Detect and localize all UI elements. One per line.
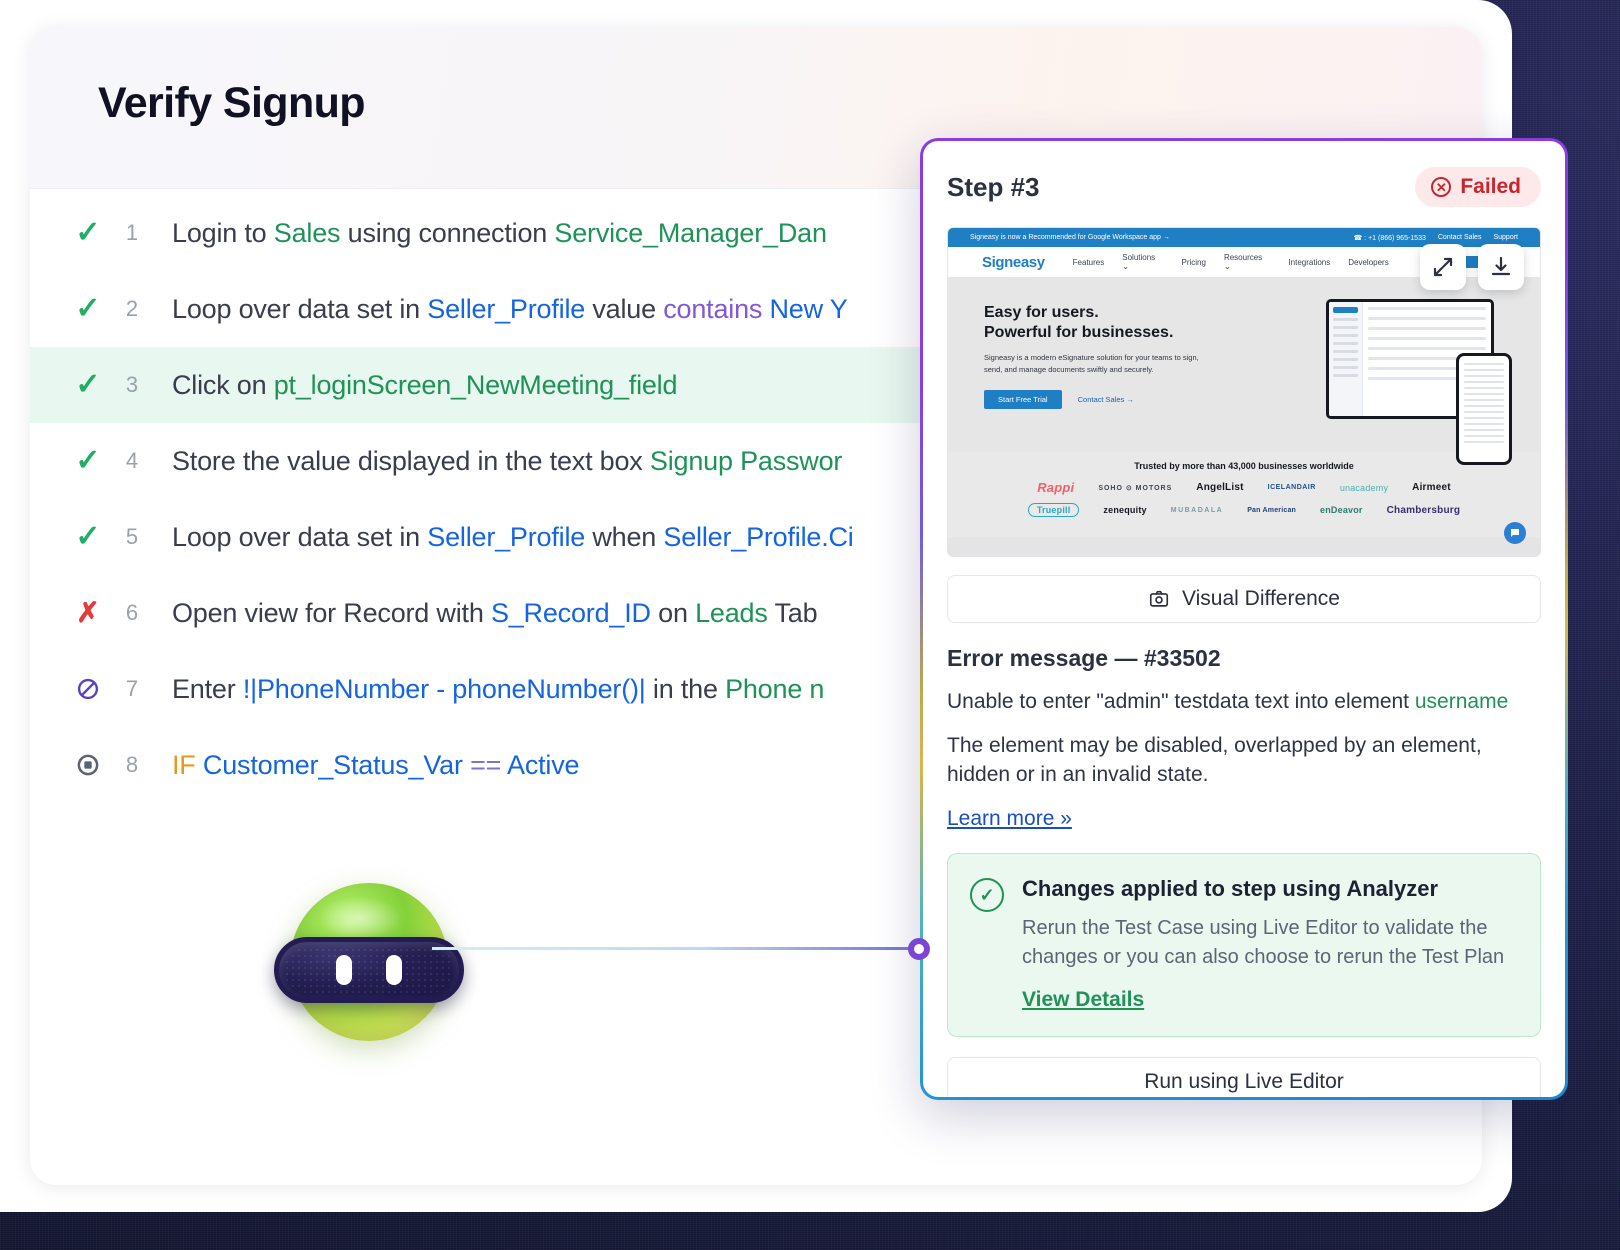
analyzer-body: Rerun the Test Case using Live Editor to…: [1022, 914, 1516, 972]
logo-pan-american: Pan American: [1247, 507, 1296, 514]
step-token: |: [250, 674, 257, 704]
download-button[interactable]: [1478, 244, 1524, 290]
analyzer-callout: ✓ Changes applied to step using Analyzer…: [947, 853, 1541, 1037]
analyzer-content: Changes applied to step using Analyzer R…: [1022, 876, 1516, 1012]
step-token: Seller_Profile.Ci: [663, 522, 853, 552]
thumb-hero-subtitle: Signeasy is a modern eSignature solution…: [984, 352, 1199, 376]
step-number: 4: [110, 448, 154, 474]
step-token: Seller_Profile: [427, 294, 585, 324]
logo-soho-motors: SOHO ⊙ MOTORS: [1098, 484, 1172, 492]
thumb-trust-title: Trusted by more than 43,000 businesses w…: [948, 461, 1540, 471]
thumb-nav-item: Solutions ⌄: [1122, 253, 1163, 271]
step-token: Active: [507, 750, 579, 780]
logo-mubadala: MUBADALA: [1171, 507, 1223, 514]
thumb-trust-section: Trusted by more than 43,000 businesses w…: [948, 452, 1540, 537]
circle-slash-icon: [75, 676, 101, 702]
step-token: S_Record_ID: [491, 598, 651, 628]
thumb-device-mockups: [1326, 299, 1516, 449]
step-token: [463, 750, 470, 780]
step-token: Phone n: [725, 674, 824, 704]
thumbnail-actions: [1420, 244, 1524, 290]
analyzer-title: Changes applied to step using Analyzer: [1022, 876, 1516, 902]
logo-icelandair: ICELANDAIR: [1268, 484, 1316, 491]
step-token: pt_loginScreen_NewMeeting_field: [274, 370, 678, 400]
logo-truepill: Truepill: [1028, 503, 1080, 517]
step-token: PhoneNumber - phoneNumber(): [257, 674, 639, 704]
step-token: contains: [663, 294, 762, 324]
view-details-link[interactable]: View Details: [1022, 988, 1144, 1012]
step-number: 2: [110, 296, 154, 322]
step-token: Sales: [274, 218, 341, 248]
step-token: Customer_Status_Var: [203, 750, 463, 780]
error-line-2: The element may be disabled, overlapped …: [947, 732, 1541, 789]
logo-airmeet: Airmeet: [1412, 482, 1451, 493]
step-description: IF Customer_Status_Var == Active: [172, 750, 579, 781]
thumb-contact-sales-link: Contact Sales →: [1078, 395, 1134, 404]
thumb-logo-row-2: Truepill zenequity MUBADALA Pan American…: [948, 503, 1540, 517]
step-number: 6: [110, 600, 154, 626]
step-token: IF: [172, 750, 196, 780]
run-using-live-editor-button[interactable]: Run using Live Editor: [947, 1057, 1541, 1097]
connector-line: [432, 947, 919, 950]
thumb-topbar-right: ☎ : +1 (866) 965-1533 Contact Sales Supp…: [1354, 234, 1518, 242]
step-token: Leads: [695, 598, 768, 628]
expand-button[interactable]: [1420, 244, 1466, 290]
error-line-1-prefix: Unable to enter "admin" testdata text in…: [947, 690, 1415, 713]
step-detail-header: Step #3 ✕ Failed: [947, 167, 1541, 207]
check-icon: ✓: [75, 522, 100, 552]
status-badge: ✕ Failed: [1415, 167, 1541, 207]
step-number: 8: [110, 752, 154, 778]
step-status-icon: ✓: [66, 522, 110, 552]
step-status-icon: ✓: [66, 370, 110, 400]
check-icon: ✓: [75, 294, 100, 324]
thumb-nav-item: Developers: [1348, 258, 1388, 267]
step-token: [196, 750, 203, 780]
step-token: Login to: [172, 218, 274, 248]
step-token: Open view for Record with: [172, 598, 491, 628]
check-icon: ✓: [75, 446, 100, 476]
thumb-nav-item: Pricing: [1181, 258, 1205, 267]
step-token: on: [651, 598, 695, 628]
step-description: Loop over data set in Seller_Profile whe…: [172, 522, 854, 553]
step-token: Click on: [172, 370, 274, 400]
logo-rappi: Rappi: [1037, 480, 1074, 495]
step-description: Loop over data set in Seller_Profile val…: [172, 294, 848, 325]
step-screenshot-thumbnail[interactable]: Signeasy is now a Recommended for Google…: [947, 227, 1541, 557]
visual-difference-button[interactable]: Visual Difference: [947, 575, 1541, 623]
visual-difference-label: Visual Difference: [1182, 587, 1340, 611]
mascot-eye-left-icon: [336, 955, 352, 985]
phone-mockup-icon: [1456, 353, 1512, 465]
check-icon: ✓: [75, 370, 100, 400]
step-token: Signup Passwor: [650, 446, 842, 476]
learn-more-link[interactable]: Learn more »: [947, 807, 1072, 831]
step-token: Seller_Profile: [427, 522, 585, 552]
logo-chambersburg: Chambersburg: [1387, 505, 1461, 516]
logo-angellist: AngelList: [1196, 482, 1243, 493]
logo-unacademy: unacademy: [1340, 483, 1388, 493]
step-token: [762, 294, 769, 324]
step-number: 7: [110, 676, 154, 702]
stop-circle-icon: [75, 752, 101, 778]
step-token: when: [585, 522, 663, 552]
thumb-phone: ☎ : +1 (866) 965-1533: [1354, 234, 1426, 242]
run-button-label: Run using Live Editor: [1144, 1070, 1344, 1094]
step-status-icon: [66, 676, 110, 702]
step-token: Enter: [172, 674, 243, 704]
step-token: |: [639, 674, 646, 704]
step-number: 1: [110, 220, 154, 246]
thumb-banner-text: Signeasy is now a Recommended for Google…: [970, 234, 1170, 241]
mascot-eye-right-icon: [386, 955, 402, 985]
error-element-name: username: [1415, 690, 1508, 713]
step-status-icon: ✓: [66, 218, 110, 248]
step-status-icon: ✓: [66, 294, 110, 324]
step-description: Click on pt_loginScreen_NewMeeting_field: [172, 370, 677, 401]
error-title: Error message — #33502: [947, 645, 1541, 672]
signeasy-logo: Signeasy: [982, 254, 1045, 271]
step-description: Enter !|PhoneNumber - phoneNumber()| in …: [172, 674, 824, 705]
step-token: Loop over data set in: [172, 522, 427, 552]
thumb-hero: Easy for users. Powerful for businesses.…: [948, 277, 1540, 452]
logo-endeavor: enDeavor: [1320, 505, 1363, 515]
step-number: 5: [110, 524, 154, 550]
step-token: using connection: [340, 218, 554, 248]
check-icon: ✓: [75, 218, 100, 248]
step-number: 3: [110, 372, 154, 398]
step-description: Store the value displayed in the text bo…: [172, 446, 842, 477]
step-description: Login to Sales using connection Service_…: [172, 218, 827, 249]
assistant-mascot: [274, 867, 464, 1057]
step-description: Open view for Record with S_Record_ID on…: [172, 598, 817, 629]
thumb-nav-item: Integrations: [1288, 258, 1330, 267]
thumb-nav-item: Features: [1073, 258, 1105, 267]
step-token: Store the value displayed in the text bo…: [172, 446, 650, 476]
error-line-1: Unable to enter "admin" testdata text in…: [947, 688, 1541, 716]
thumb-logo-row-1: Rappi SOHO ⊙ MOTORS AngelList ICELANDAIR…: [948, 480, 1540, 495]
laptop-sidebar: [1329, 302, 1363, 416]
step-detail-title: Step #3: [947, 172, 1040, 203]
status-badge-label: Failed: [1460, 175, 1521, 199]
thumb-support: Support: [1493, 234, 1518, 242]
step-token: ==: [470, 750, 501, 780]
step-status-icon: ✗: [66, 599, 110, 627]
page-title: Verify Signup: [98, 79, 365, 128]
thumb-contact-sales: Contact Sales: [1438, 234, 1482, 242]
camera-icon: [1148, 588, 1170, 610]
check-circle-icon: ✓: [970, 878, 1004, 912]
step-status-icon: [66, 752, 110, 778]
step-status-icon: ✓: [66, 446, 110, 476]
thumb-start-free-trial-button: Start Free Trial: [984, 390, 1062, 409]
chat-bubble-icon[interactable]: [1504, 522, 1526, 544]
step-token: Loop over data set in: [172, 294, 427, 324]
connector-anchor-dot: [908, 938, 930, 960]
thumb-nav-item: Resources ⌄: [1224, 253, 1270, 271]
logo-zenequity: zenequity: [1103, 505, 1146, 515]
cross-icon: ✗: [76, 599, 99, 627]
failed-icon: ✕: [1431, 177, 1451, 197]
step-token: New Y: [770, 294, 848, 324]
step-token: Service_Manager_Dan: [554, 218, 826, 248]
step-token: in the: [646, 674, 725, 704]
step-token: Tab: [768, 598, 818, 628]
step-detail-panel: Step #3 ✕ Failed Signeasy is now a Recom…: [920, 138, 1568, 1100]
step-detail-inner: Step #3 ✕ Failed Signeasy is now a Recom…: [923, 141, 1565, 1097]
step-token: value: [585, 294, 663, 324]
